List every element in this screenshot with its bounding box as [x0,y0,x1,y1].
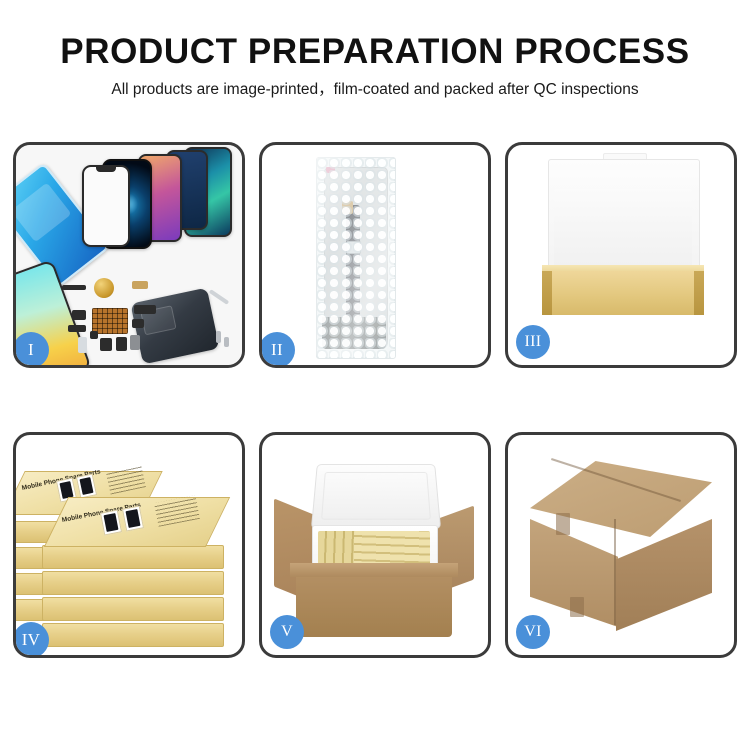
stacked-box-image [42,623,224,647]
screw-part-image [216,331,221,343]
small-part-image [116,337,127,351]
step-badge-5: V [270,615,304,649]
panel-4-image: Mobile Phone Spare Parts Mobile Phone Sp… [16,435,242,655]
copper-shield-part-image [94,278,114,298]
page-header: PRODUCT PREPARATION PROCESS All products… [0,0,750,98]
white-frame-phone-image [82,165,130,247]
small-part-image [132,281,148,289]
small-part-image [68,325,86,332]
small-part-image [130,335,140,350]
shipping-carton-image [296,573,452,637]
stacked-box-image [42,571,224,595]
carton-vertical-edge [614,519,616,625]
panel-1-image [16,145,242,365]
process-step-3-panel[interactable]: III [505,142,737,368]
stacked-box-image [42,597,224,621]
step-badge-1: I [13,332,49,368]
golden-box-front-image [542,271,704,315]
page-title: PRODUCT PREPARATION PROCESS [0,34,750,69]
stacked-box-image [42,545,224,569]
step-badge-4: IV [13,622,49,658]
small-part-image [134,305,156,314]
step-badge-2: II [259,332,295,368]
step-badge-3: III [516,325,550,359]
small-part-image [100,338,112,351]
page-subtitle: All products are image-printed，film-coat… [0,82,750,98]
carton-tape-tab [570,597,584,617]
process-step-4-panel[interactable]: Mobile Phone Spare Parts Mobile Phone Sp… [13,432,245,658]
process-step-2-panel[interactable]: II [259,142,491,368]
screw-part-image [224,337,229,347]
foam-sheet-image [554,189,692,273]
carton-right-face-image [616,519,712,631]
small-part-image [62,285,86,290]
shield-mesh-part-image [92,308,128,334]
process-panel-grid: I II III [13,142,737,658]
process-step-5-panel[interactable]: V [259,432,491,658]
small-part-image [90,331,98,339]
small-part-image [72,310,86,320]
small-part-image [132,319,144,328]
bubble-wrap-bag-image [316,157,396,359]
process-step-6-panel[interactable]: VI [505,432,737,658]
step-badge-6: VI [516,615,550,649]
small-part-image [78,337,87,353]
carton-tape-tab [556,513,570,535]
panel-2-image [262,145,488,365]
process-step-1-panel[interactable]: I [13,142,245,368]
foam-cooler-lid-image [311,464,441,529]
